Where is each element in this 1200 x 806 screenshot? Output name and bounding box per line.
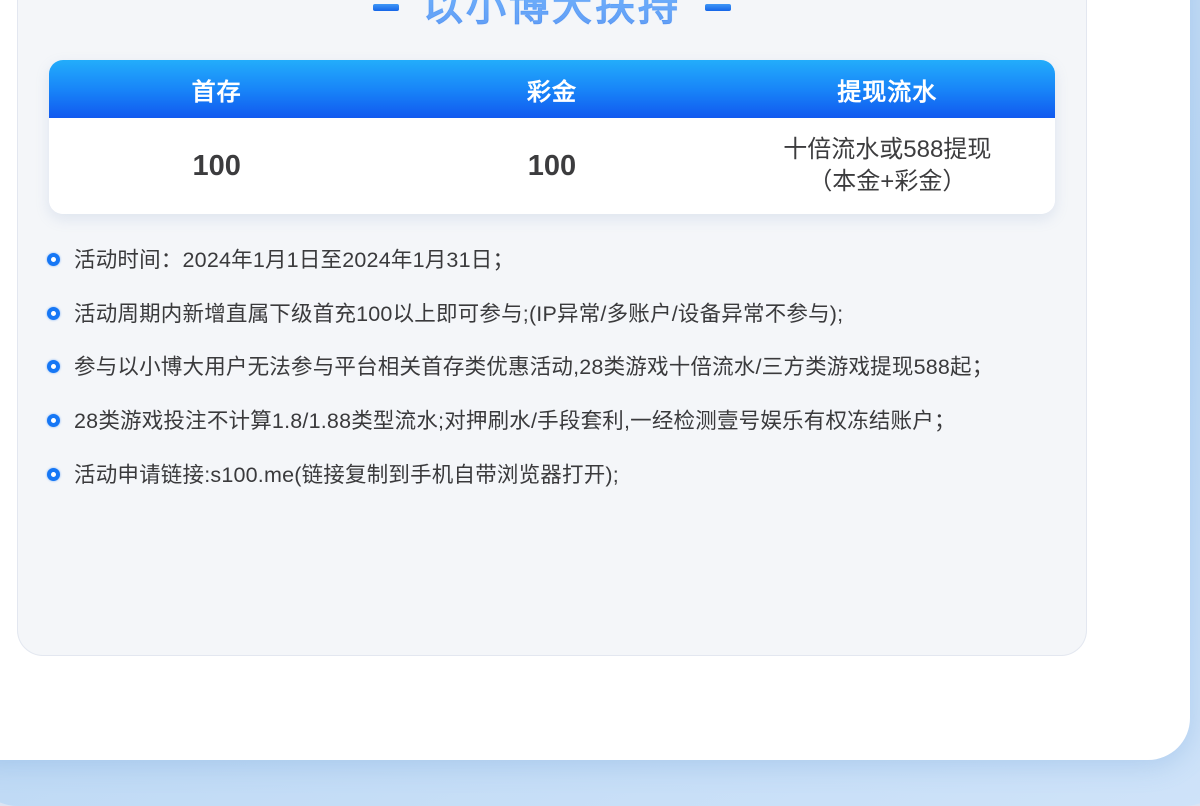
title-dash-left (373, 4, 399, 11)
list-item: 活动周期内新增直属下级首充100以上即可参与;(IP异常/多账户/设备异常不参与… (47, 298, 1057, 331)
title-dash-right (705, 4, 731, 11)
cell-turnover: 十倍流水或588提现 （本金+彩金） (720, 118, 1055, 214)
title-text: 以小博大扶持 (423, 0, 681, 30)
term-text: 28类游戏投注不计算1.8/1.88类型流水;对押刷水/手段套利,一经检测壹号娱… (74, 405, 956, 438)
table-header-turnover: 提现流水 (720, 60, 1055, 118)
table-header-bonus: 彩金 (384, 60, 719, 118)
white-frame: 以小博大扶持 首存 彩金 提现流水 100 100 (0, 0, 1190, 760)
bonus-table: 首存 彩金 提现流水 100 100 十倍流水或588提现 （本金+彩金） (49, 60, 1055, 214)
cell-turnover-line1: 十倍流水或588提现 (783, 134, 991, 166)
term-text: 参与以小博大用户无法参与平台相关首存类优惠活动,28类游戏十倍流水/三方类游戏提… (74, 351, 993, 384)
ring-bullet-icon (47, 414, 60, 427)
table-header-first-deposit: 首存 (49, 60, 384, 118)
term-text: 活动周期内新增直属下级首充100以上即可参与;(IP异常/多账户/设备异常不参与… (74, 298, 843, 331)
list-item: 28类游戏投注不计算1.8/1.88类型流水;对押刷水/手段套利,一经检测壹号娱… (47, 405, 1057, 438)
cell-turnover-line2: （本金+彩金） (783, 166, 991, 198)
page-background: 以小博大扶持 首存 彩金 提现流水 100 100 (0, 0, 1200, 769)
table-row: 100 100 十倍流水或588提现 （本金+彩金） (49, 118, 1055, 214)
list-item: 参与以小博大用户无法参与平台相关首存类优惠活动,28类游戏十倍流水/三方类游戏提… (47, 351, 1057, 384)
ring-bullet-icon (47, 468, 60, 481)
list-item: 活动申请链接:s100.me(链接复制到手机自带浏览器打开); (47, 459, 1057, 492)
ring-bullet-icon (47, 307, 60, 320)
cell-bonus: 100 (384, 118, 719, 214)
list-item: 活动时间：2024年1月1日至2024年1月31日； (47, 244, 1057, 277)
page-title: 以小博大扶持 (17, 0, 1087, 30)
table-header-row: 首存 彩金 提现流水 (49, 60, 1055, 118)
term-text: 活动申请链接:s100.me(链接复制到手机自带浏览器打开); (74, 459, 619, 492)
term-text: 活动时间：2024年1月1日至2024年1月31日； (74, 244, 514, 277)
promotion-card: 以小博大扶持 首存 彩金 提现流水 100 100 (17, 0, 1087, 656)
terms-list: 活动时间：2024年1月1日至2024年1月31日； 活动周期内新增直属下级首充… (47, 244, 1057, 491)
ring-bullet-icon (47, 253, 60, 266)
ring-bullet-icon (47, 360, 60, 373)
outer-blue-frame: 以小博大扶持 首存 彩金 提现流水 100 100 (0, 0, 1200, 806)
cell-first-deposit: 100 (49, 118, 384, 214)
